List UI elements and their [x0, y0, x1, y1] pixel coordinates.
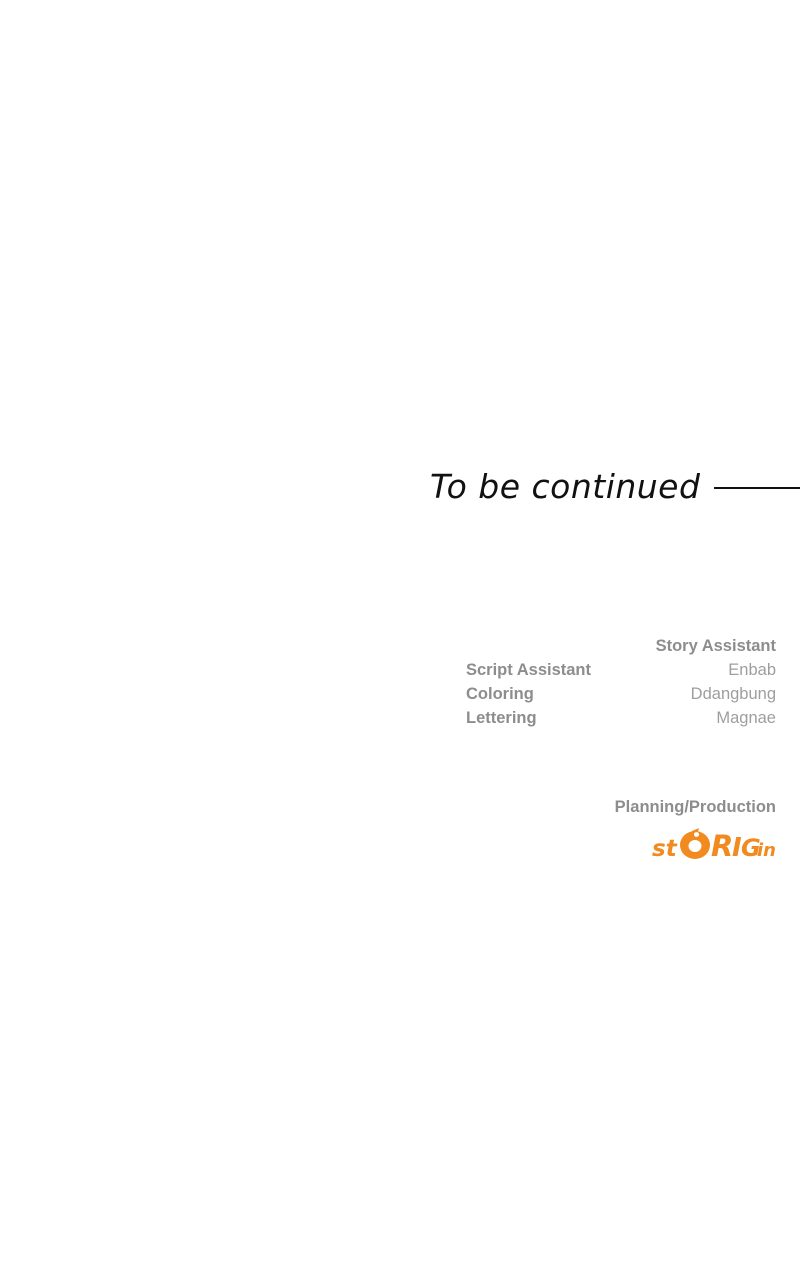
credits-block: Story Assistant Script Assistant Enbab C…	[466, 634, 776, 730]
to-be-continued-block: To be continued	[0, 462, 800, 510]
storigin-logo: st R I G in	[652, 826, 776, 860]
credit-label-script-assistant: Script Assistant	[466, 658, 591, 682]
publisher-label: Planning/Production	[466, 796, 776, 818]
publisher-block: Planning/Production st R I G in	[466, 796, 776, 860]
logo-part-st: st	[652, 836, 678, 860]
to-be-continued-rule	[714, 487, 800, 489]
to-be-continued-text: To be continued	[430, 470, 700, 503]
credit-row: Script Assistant Enbab	[466, 658, 776, 682]
logo-part-in: in	[757, 840, 776, 860]
logo-part-O	[680, 828, 710, 859]
credit-value-script-assistant: Enbab	[728, 658, 776, 682]
credit-value-lettering: Magnae	[716, 706, 776, 730]
credit-label-coloring: Coloring	[466, 682, 534, 706]
credit-row: Coloring Ddangbung	[466, 682, 776, 706]
credit-value-coloring: Ddangbung	[691, 682, 776, 706]
credit-label-lettering: Lettering	[466, 706, 537, 730]
credit-row: Story Assistant	[466, 634, 776, 658]
credit-row: Lettering Magnae	[466, 706, 776, 730]
logo-part-R: R	[711, 829, 733, 860]
credit-value-story-assistant: Story Assistant	[656, 634, 776, 658]
